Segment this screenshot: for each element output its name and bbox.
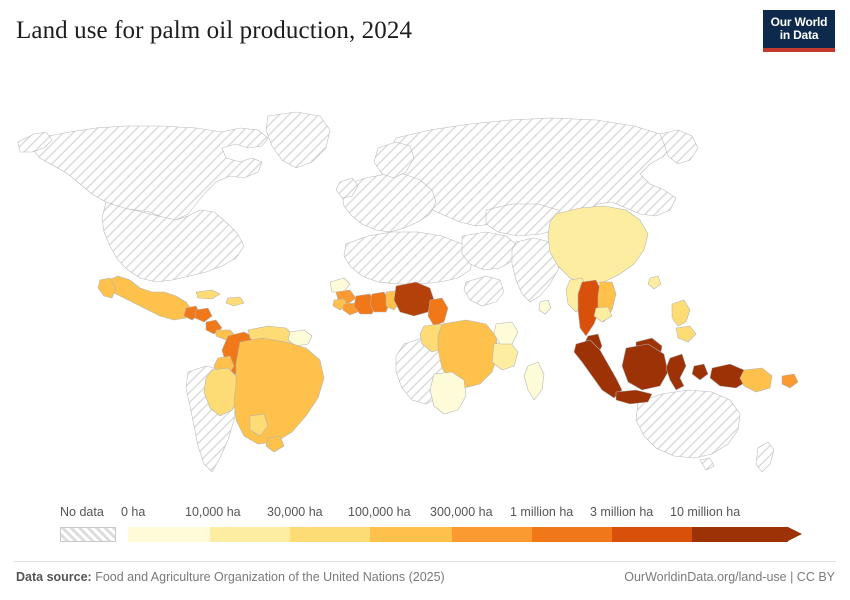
country-indonesia-sulawesi <box>666 354 686 390</box>
chart-footer: Data source: Food and Agriculture Organi… <box>0 566 850 596</box>
country-mexico <box>104 276 192 320</box>
country-taiwan <box>648 276 661 289</box>
legend-band-1[interactable] <box>210 527 290 542</box>
region-middle-east <box>462 232 518 270</box>
country-indonesia-java <box>616 390 652 404</box>
country-australia <box>636 390 740 458</box>
legend-band-5[interactable] <box>532 527 612 542</box>
logo-line-2: in Data <box>780 29 819 42</box>
country-honduras <box>195 308 212 322</box>
country-indonesia-sumatra <box>574 340 622 398</box>
legend-band-0[interactable] <box>128 527 210 542</box>
country-new-zealand <box>756 442 774 472</box>
chart-page: Land use for palm oil production, 2024 O… <box>0 0 850 600</box>
map-svg[interactable] <box>0 86 850 496</box>
world-map[interactable] <box>0 86 850 496</box>
country-indonesia-maluku <box>692 364 708 380</box>
country-madagascar <box>524 362 544 400</box>
page-title: Land use for palm oil production, 2024 <box>16 16 412 46</box>
country-dominican-republic <box>226 297 244 306</box>
legend-band-4[interactable] <box>452 527 532 542</box>
region-horn-of-africa <box>464 276 504 306</box>
country-tanzania <box>492 342 518 370</box>
country-philippines-south <box>676 326 696 342</box>
legend-tick-1: 10,000 ha <box>185 505 241 519</box>
legend-arrow-cap <box>788 527 802 541</box>
country-sri-lanka <box>539 300 551 314</box>
legend-tick-3: 100,000 ha <box>348 505 411 519</box>
data-source-label: Data source: <box>16 570 92 584</box>
country-cuba <box>196 290 220 299</box>
footer-divider <box>14 561 836 562</box>
country-tasmania <box>700 458 714 470</box>
chart-header: Land use for palm oil production, 2024 O… <box>0 0 850 70</box>
country-china <box>548 206 648 284</box>
country-brazil <box>234 338 324 444</box>
map-legend: No data 0 ha 10,000 ha 30,000 ha 100,000… <box>0 505 850 553</box>
data-source: Data source: Food and Agriculture Organi… <box>16 570 445 584</box>
country-philippines <box>672 300 690 326</box>
country-indonesia-papua <box>710 364 746 388</box>
legend-no-data-label: No data <box>60 505 104 519</box>
country-solomon-islands <box>782 374 798 388</box>
country-papua-new-guinea <box>740 368 772 392</box>
legend-tick-4: 300,000 ha <box>430 505 493 519</box>
country-nigeria <box>394 282 434 316</box>
legend-no-data-swatch[interactable] <box>60 527 116 542</box>
legend-band-6[interactable] <box>612 527 692 542</box>
legend-tick-0: 0 ha <box>121 505 145 519</box>
legend-band-3[interactable] <box>370 527 452 542</box>
data-source-text: Food and Agriculture Organization of the… <box>92 570 445 584</box>
region-europe <box>342 174 436 232</box>
country-senegal <box>330 278 350 292</box>
legend-tick-5: 1 million ha <box>510 505 573 519</box>
country-angola <box>430 372 466 414</box>
license-link[interactable]: OurWorldinData.org/land-use | CC BY <box>624 570 835 584</box>
legend-tick-2: 30,000 ha <box>267 505 323 519</box>
owid-logo[interactable]: Our World in Data <box>763 10 835 52</box>
country-kenya <box>494 322 518 344</box>
legend-tick-labels: No data 0 ha 10,000 ha 30,000 ha 100,000… <box>0 505 850 525</box>
legend-tick-6: 3 million ha <box>590 505 653 519</box>
country-cameroon <box>428 298 448 326</box>
country-canada <box>28 126 268 220</box>
country-greenland <box>266 112 330 168</box>
country-cambodia <box>594 307 612 322</box>
legend-tick-7: 10 million ha <box>670 505 740 519</box>
legend-band-7[interactable] <box>692 527 788 542</box>
country-kamchatka <box>660 130 698 164</box>
region-north-africa <box>344 232 474 284</box>
legend-band-2[interactable] <box>290 527 370 542</box>
